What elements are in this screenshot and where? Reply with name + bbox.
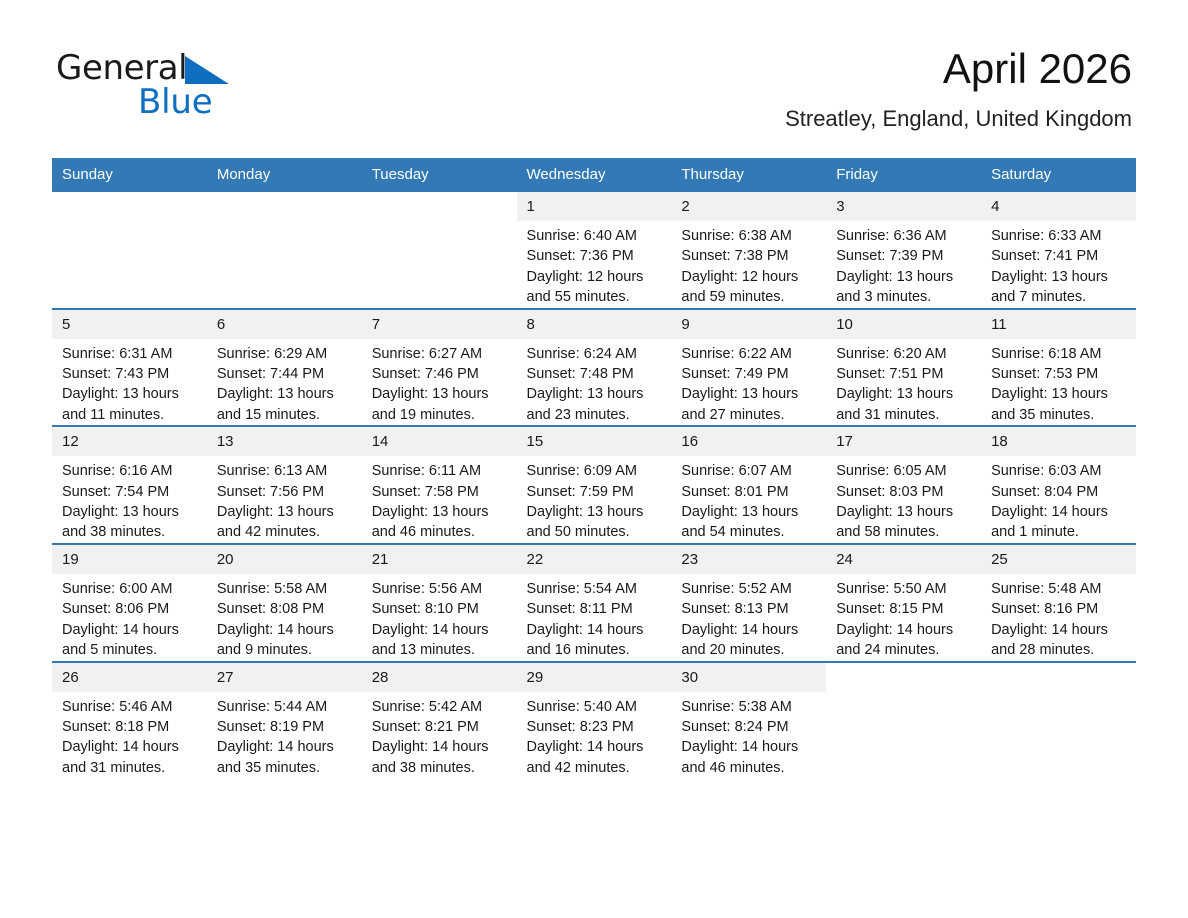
day-number: 24: [826, 545, 981, 574]
day-cell-inner: 2Sunrise: 6:38 AMSunset: 7:38 PMDaylight…: [671, 192, 826, 308]
location-subtitle: Streatley, England, United Kingdom: [785, 106, 1132, 132]
daylight-text-line1: Daylight: 13 hours: [217, 384, 356, 404]
sunrise-text: Sunrise: 5:58 AM: [217, 579, 356, 599]
daylight-text-line1: Daylight: 13 hours: [836, 384, 975, 404]
logo-text-blue: Blue: [138, 85, 356, 119]
weekday-header-wednesday: Wednesday: [517, 158, 672, 192]
sunrise-text: Sunrise: 6:18 AM: [991, 344, 1130, 364]
weekday-header-thursday: Thursday: [671, 158, 826, 192]
daylight-text-line1: Daylight: 13 hours: [836, 267, 975, 287]
daylight-text-line1: Daylight: 14 hours: [681, 737, 820, 757]
sunset-text: Sunset: 7:48 PM: [527, 364, 666, 384]
day-details: Sunrise: 5:38 AMSunset: 8:24 PMDaylight:…: [671, 692, 826, 779]
daylight-text-line2: and 20 minutes.: [681, 640, 820, 660]
day-number: [826, 663, 981, 692]
day-cell-inner: 3Sunrise: 6:36 AMSunset: 7:39 PMDaylight…: [826, 192, 981, 308]
calendar-day-cell[interactable]: 13Sunrise: 6:13 AMSunset: 7:56 PMDayligh…: [207, 426, 362, 544]
day-number: 25: [981, 545, 1136, 574]
sunset-text: Sunset: 7:43 PM: [62, 364, 201, 384]
sunset-text: Sunset: 8:03 PM: [836, 482, 975, 502]
sunrise-text: Sunrise: 5:52 AM: [681, 579, 820, 599]
weekday-header-tuesday: Tuesday: [362, 158, 517, 192]
daylight-text-line2: and 5 minutes.: [62, 640, 201, 660]
daylight-text-line1: Daylight: 14 hours: [372, 737, 511, 757]
day-cell-inner: [207, 192, 362, 308]
calendar-day-cell[interactable]: 15Sunrise: 6:09 AMSunset: 7:59 PMDayligh…: [517, 426, 672, 544]
sunset-text: Sunset: 7:44 PM: [217, 364, 356, 384]
calendar-day-cell[interactable]: 20Sunrise: 5:58 AMSunset: 8:08 PMDayligh…: [207, 544, 362, 662]
day-details: Sunrise: 6:36 AMSunset: 7:39 PMDaylight:…: [826, 221, 981, 308]
day-number: 6: [207, 310, 362, 339]
sunset-text: Sunset: 8:08 PM: [217, 599, 356, 619]
calendar-day-cell[interactable]: 30Sunrise: 5:38 AMSunset: 8:24 PMDayligh…: [671, 662, 826, 779]
day-details: Sunrise: 6:16 AMSunset: 7:54 PMDaylight:…: [52, 456, 207, 543]
sunrise-text: Sunrise: 6:20 AM: [836, 344, 975, 364]
day-details: Sunrise: 6:33 AMSunset: 7:41 PMDaylight:…: [981, 221, 1136, 308]
sunrise-text: Sunrise: 6:00 AM: [62, 579, 201, 599]
calendar-day-cell[interactable]: 9Sunrise: 6:22 AMSunset: 7:49 PMDaylight…: [671, 309, 826, 427]
daylight-text-line1: Daylight: 13 hours: [681, 502, 820, 522]
calendar-day-cell[interactable]: 10Sunrise: 6:20 AMSunset: 7:51 PMDayligh…: [826, 309, 981, 427]
sunset-text: Sunset: 8:13 PM: [681, 599, 820, 619]
calendar-page: General Blue April 2026 Streatley, Engla…: [0, 0, 1188, 918]
daylight-text-line2: and 16 minutes.: [527, 640, 666, 660]
day-details: Sunrise: 6:03 AMSunset: 8:04 PMDaylight:…: [981, 456, 1136, 543]
day-cell-inner: 17Sunrise: 6:05 AMSunset: 8:03 PMDayligh…: [826, 427, 981, 543]
day-details: Sunrise: 6:05 AMSunset: 8:03 PMDaylight:…: [826, 456, 981, 543]
sunset-text: Sunset: 8:06 PM: [62, 599, 201, 619]
day-number: 3: [826, 192, 981, 221]
sunset-text: Sunset: 8:15 PM: [836, 599, 975, 619]
calendar-table: Sunday Monday Tuesday Wednesday Thursday…: [52, 158, 1136, 778]
weekday-header-monday: Monday: [207, 158, 362, 192]
day-number: 1: [517, 192, 672, 221]
day-cell-inner: 23Sunrise: 5:52 AMSunset: 8:13 PMDayligh…: [671, 545, 826, 661]
daylight-text-line2: and 35 minutes.: [991, 405, 1130, 425]
calendar-day-cell[interactable]: 24Sunrise: 5:50 AMSunset: 8:15 PMDayligh…: [826, 544, 981, 662]
calendar-week-row: 12Sunrise: 6:16 AMSunset: 7:54 PMDayligh…: [52, 426, 1136, 544]
logo-top-row: General: [56, 50, 356, 88]
daylight-text-line2: and 13 minutes.: [372, 640, 511, 660]
daylight-text-line1: Daylight: 13 hours: [372, 384, 511, 404]
day-cell-inner: 7Sunrise: 6:27 AMSunset: 7:46 PMDaylight…: [362, 310, 517, 426]
daylight-text-line1: Daylight: 13 hours: [527, 384, 666, 404]
sunset-text: Sunset: 7:56 PM: [217, 482, 356, 502]
calendar-day-cell[interactable]: 16Sunrise: 6:07 AMSunset: 8:01 PMDayligh…: [671, 426, 826, 544]
day-cell-inner: [981, 663, 1136, 779]
day-details: Sunrise: 5:56 AMSunset: 8:10 PMDaylight:…: [362, 574, 517, 661]
day-details: Sunrise: 6:22 AMSunset: 7:49 PMDaylight:…: [671, 339, 826, 426]
calendar-cell-empty: [826, 662, 981, 779]
day-number: 2: [671, 192, 826, 221]
daylight-text-line1: Daylight: 14 hours: [836, 620, 975, 640]
day-number: 28: [362, 663, 517, 692]
calendar-day-cell[interactable]: 12Sunrise: 6:16 AMSunset: 7:54 PMDayligh…: [52, 426, 207, 544]
page-header: General Blue April 2026 Streatley, Engla…: [0, 0, 1188, 118]
day-details: Sunrise: 5:40 AMSunset: 8:23 PMDaylight:…: [517, 692, 672, 779]
calendar-day-cell[interactable]: 27Sunrise: 5:44 AMSunset: 8:19 PMDayligh…: [207, 662, 362, 779]
calendar-day-cell[interactable]: 19Sunrise: 6:00 AMSunset: 8:06 PMDayligh…: [52, 544, 207, 662]
day-cell-inner: 13Sunrise: 6:13 AMSunset: 7:56 PMDayligh…: [207, 427, 362, 543]
calendar-day-cell[interactable]: 6Sunrise: 6:29 AMSunset: 7:44 PMDaylight…: [207, 309, 362, 427]
weekday-header-saturday: Saturday: [981, 158, 1136, 192]
logo-text-general: General: [56, 50, 187, 86]
day-cell-inner: 1Sunrise: 6:40 AMSunset: 7:36 PMDaylight…: [517, 192, 672, 308]
sunset-text: Sunset: 8:24 PM: [681, 717, 820, 737]
sunset-text: Sunset: 7:41 PM: [991, 246, 1130, 266]
daylight-text-line2: and 27 minutes.: [681, 405, 820, 425]
daylight-text-line2: and 42 minutes.: [527, 758, 666, 778]
day-number: 10: [826, 310, 981, 339]
sunset-text: Sunset: 7:54 PM: [62, 482, 201, 502]
calendar-week-row: 26Sunrise: 5:46 AMSunset: 8:18 PMDayligh…: [52, 662, 1136, 779]
sunrise-text: Sunrise: 6:31 AM: [62, 344, 201, 364]
daylight-text-line1: Daylight: 14 hours: [991, 620, 1130, 640]
day-number: 19: [52, 545, 207, 574]
day-cell-inner: 18Sunrise: 6:03 AMSunset: 8:04 PMDayligh…: [981, 427, 1136, 543]
day-number: 9: [671, 310, 826, 339]
day-number: 17: [826, 427, 981, 456]
day-details: Sunrise: 6:20 AMSunset: 7:51 PMDaylight:…: [826, 339, 981, 426]
sunset-text: Sunset: 8:21 PM: [372, 717, 511, 737]
daylight-text-line2: and 3 minutes.: [836, 287, 975, 307]
day-number: 7: [362, 310, 517, 339]
day-cell-inner: 8Sunrise: 6:24 AMSunset: 7:48 PMDaylight…: [517, 310, 672, 426]
day-cell-inner: 4Sunrise: 6:33 AMSunset: 7:41 PMDaylight…: [981, 192, 1136, 308]
daylight-text-line1: Daylight: 13 hours: [62, 502, 201, 522]
sunset-text: Sunset: 8:10 PM: [372, 599, 511, 619]
calendar-container: Sunday Monday Tuesday Wednesday Thursday…: [52, 158, 1136, 778]
day-number: [52, 192, 207, 221]
sunset-text: Sunset: 7:36 PM: [527, 246, 666, 266]
triangle-icon: [185, 56, 229, 89]
daylight-text-line2: and 35 minutes.: [217, 758, 356, 778]
day-cell-inner: 19Sunrise: 6:00 AMSunset: 8:06 PMDayligh…: [52, 545, 207, 661]
day-details: Sunrise: 6:27 AMSunset: 7:46 PMDaylight:…: [362, 339, 517, 426]
day-number: 16: [671, 427, 826, 456]
day-details: Sunrise: 5:54 AMSunset: 8:11 PMDaylight:…: [517, 574, 672, 661]
sunrise-text: Sunrise: 6:29 AM: [217, 344, 356, 364]
daylight-text-line2: and 54 minutes.: [681, 522, 820, 542]
sunset-text: Sunset: 7:53 PM: [991, 364, 1130, 384]
sunset-text: Sunset: 8:23 PM: [527, 717, 666, 737]
day-details: Sunrise: 6:29 AMSunset: 7:44 PMDaylight:…: [207, 339, 362, 426]
day-number: [207, 192, 362, 221]
sunrise-text: Sunrise: 6:38 AM: [681, 226, 820, 246]
sunset-text: Sunset: 8:16 PM: [991, 599, 1130, 619]
day-details: Sunrise: 6:38 AMSunset: 7:38 PMDaylight:…: [671, 221, 826, 308]
day-details: Sunrise: 5:52 AMSunset: 8:13 PMDaylight:…: [671, 574, 826, 661]
title-block: April 2026 Streatley, England, United Ki…: [785, 44, 1132, 132]
day-details: Sunrise: 6:00 AMSunset: 8:06 PMDaylight:…: [52, 574, 207, 661]
calendar-day-cell[interactable]: 11Sunrise: 6:18 AMSunset: 7:53 PMDayligh…: [981, 309, 1136, 427]
day-number: 23: [671, 545, 826, 574]
daylight-text-line1: Daylight: 14 hours: [217, 737, 356, 757]
calendar-day-cell[interactable]: 22Sunrise: 5:54 AMSunset: 8:11 PMDayligh…: [517, 544, 672, 662]
day-details: Sunrise: 5:42 AMSunset: 8:21 PMDaylight:…: [362, 692, 517, 779]
day-number: 15: [517, 427, 672, 456]
sunrise-text: Sunrise: 5:48 AM: [991, 579, 1130, 599]
daylight-text-line2: and 1 minute.: [991, 522, 1130, 542]
calendar-cell-empty: [362, 192, 517, 309]
day-details: Sunrise: 5:48 AMSunset: 8:16 PMDaylight:…: [981, 574, 1136, 661]
day-details: Sunrise: 5:44 AMSunset: 8:19 PMDaylight:…: [207, 692, 362, 779]
day-details: Sunrise: 6:07 AMSunset: 8:01 PMDaylight:…: [671, 456, 826, 543]
daylight-text-line2: and 59 minutes.: [681, 287, 820, 307]
day-cell-inner: 20Sunrise: 5:58 AMSunset: 8:08 PMDayligh…: [207, 545, 362, 661]
day-number: [362, 192, 517, 221]
sunrise-text: Sunrise: 6:11 AM: [372, 461, 511, 481]
day-cell-inner: 29Sunrise: 5:40 AMSunset: 8:23 PMDayligh…: [517, 663, 672, 779]
day-details: Sunrise: 6:31 AMSunset: 7:43 PMDaylight:…: [52, 339, 207, 426]
daylight-text-line2: and 55 minutes.: [527, 287, 666, 307]
day-details: Sunrise: 6:11 AMSunset: 7:58 PMDaylight:…: [362, 456, 517, 543]
day-details: Sunrise: 6:09 AMSunset: 7:59 PMDaylight:…: [517, 456, 672, 543]
day-cell-inner: 21Sunrise: 5:56 AMSunset: 8:10 PMDayligh…: [362, 545, 517, 661]
sunrise-text: Sunrise: 6:03 AM: [991, 461, 1130, 481]
daylight-text-line1: Daylight: 14 hours: [527, 620, 666, 640]
daylight-text-line2: and 31 minutes.: [62, 758, 201, 778]
calendar-day-cell[interactable]: 4Sunrise: 6:33 AMSunset: 7:41 PMDaylight…: [981, 192, 1136, 309]
day-cell-inner: 26Sunrise: 5:46 AMSunset: 8:18 PMDayligh…: [52, 663, 207, 779]
sunrise-text: Sunrise: 6:09 AM: [527, 461, 666, 481]
day-number: 22: [517, 545, 672, 574]
daylight-text-line2: and 28 minutes.: [991, 640, 1130, 660]
sunset-text: Sunset: 7:59 PM: [527, 482, 666, 502]
calendar-week-row: 5Sunrise: 6:31 AMSunset: 7:43 PMDaylight…: [52, 309, 1136, 427]
calendar-day-cell[interactable]: 21Sunrise: 5:56 AMSunset: 8:10 PMDayligh…: [362, 544, 517, 662]
day-cell-inner: 14Sunrise: 6:11 AMSunset: 7:58 PMDayligh…: [362, 427, 517, 543]
daylight-text-line2: and 7 minutes.: [991, 287, 1130, 307]
daylight-text-line1: Daylight: 13 hours: [372, 502, 511, 522]
calendar-cell-empty: [981, 662, 1136, 779]
daylight-text-line2: and 38 minutes.: [372, 758, 511, 778]
day-cell-inner: 16Sunrise: 6:07 AMSunset: 8:01 PMDayligh…: [671, 427, 826, 543]
day-number: 13: [207, 427, 362, 456]
calendar-day-cell[interactable]: 14Sunrise: 6:11 AMSunset: 7:58 PMDayligh…: [362, 426, 517, 544]
daylight-text-line2: and 58 minutes.: [836, 522, 975, 542]
daylight-text-line2: and 42 minutes.: [217, 522, 356, 542]
day-number: 27: [207, 663, 362, 692]
calendar-day-cell[interactable]: 2Sunrise: 6:38 AMSunset: 7:38 PMDaylight…: [671, 192, 826, 309]
daylight-text-line1: Daylight: 14 hours: [681, 620, 820, 640]
calendar-day-cell[interactable]: 1Sunrise: 6:40 AMSunset: 7:36 PMDaylight…: [517, 192, 672, 309]
daylight-text-line1: Daylight: 13 hours: [681, 384, 820, 404]
sunset-text: Sunset: 8:04 PM: [991, 482, 1130, 502]
sunrise-text: Sunrise: 5:42 AM: [372, 697, 511, 717]
sunrise-text: Sunrise: 6:13 AM: [217, 461, 356, 481]
calendar-day-cell[interactable]: 18Sunrise: 6:03 AMSunset: 8:04 PMDayligh…: [981, 426, 1136, 544]
sunrise-text: Sunrise: 6:24 AM: [527, 344, 666, 364]
sunrise-text: Sunrise: 5:54 AM: [527, 579, 666, 599]
sunrise-text: Sunrise: 6:16 AM: [62, 461, 201, 481]
sunset-text: Sunset: 7:58 PM: [372, 482, 511, 502]
daylight-text-line1: Daylight: 14 hours: [62, 737, 201, 757]
sunrise-text: Sunrise: 6:07 AM: [681, 461, 820, 481]
daylight-text-line1: Daylight: 12 hours: [681, 267, 820, 287]
daylight-text-line1: Daylight: 13 hours: [217, 502, 356, 522]
daylight-text-line1: Daylight: 13 hours: [527, 502, 666, 522]
sunset-text: Sunset: 7:51 PM: [836, 364, 975, 384]
daylight-text-line1: Daylight: 14 hours: [217, 620, 356, 640]
day-cell-inner: 6Sunrise: 6:29 AMSunset: 7:44 PMDaylight…: [207, 310, 362, 426]
daylight-text-line2: and 31 minutes.: [836, 405, 975, 425]
sunset-text: Sunset: 8:18 PM: [62, 717, 201, 737]
day-number: 5: [52, 310, 207, 339]
day-number: 26: [52, 663, 207, 692]
daylight-text-line2: and 46 minutes.: [372, 522, 511, 542]
day-details: Sunrise: 6:40 AMSunset: 7:36 PMDaylight:…: [517, 221, 672, 308]
sunrise-text: Sunrise: 5:56 AM: [372, 579, 511, 599]
sunset-text: Sunset: 7:46 PM: [372, 364, 511, 384]
day-details: Sunrise: 5:58 AMSunset: 8:08 PMDaylight:…: [207, 574, 362, 661]
day-number: 4: [981, 192, 1136, 221]
calendar-day-cell[interactable]: 7Sunrise: 6:27 AMSunset: 7:46 PMDaylight…: [362, 309, 517, 427]
sunset-text: Sunset: 8:11 PM: [527, 599, 666, 619]
day-cell-inner: 10Sunrise: 6:20 AMSunset: 7:51 PMDayligh…: [826, 310, 981, 426]
calendar-day-cell[interactable]: 8Sunrise: 6:24 AMSunset: 7:48 PMDaylight…: [517, 309, 672, 427]
daylight-text-line2: and 9 minutes.: [217, 640, 356, 660]
daylight-text-line1: Daylight: 13 hours: [991, 267, 1130, 287]
day-cell-inner: 15Sunrise: 6:09 AMSunset: 7:59 PMDayligh…: [517, 427, 672, 543]
day-number: 18: [981, 427, 1136, 456]
daylight-text-line1: Daylight: 14 hours: [62, 620, 201, 640]
daylight-text-line2: and 19 minutes.: [372, 405, 511, 425]
day-number: 14: [362, 427, 517, 456]
day-cell-inner: [826, 663, 981, 779]
day-number: 11: [981, 310, 1136, 339]
sunset-text: Sunset: 7:38 PM: [681, 246, 820, 266]
sunrise-text: Sunrise: 6:27 AM: [372, 344, 511, 364]
sunset-text: Sunset: 7:49 PM: [681, 364, 820, 384]
day-cell-inner: 11Sunrise: 6:18 AMSunset: 7:53 PMDayligh…: [981, 310, 1136, 426]
calendar-week-row: 19Sunrise: 6:00 AMSunset: 8:06 PMDayligh…: [52, 544, 1136, 662]
calendar-cell-empty: [207, 192, 362, 309]
calendar-day-cell[interactable]: 28Sunrise: 5:42 AMSunset: 8:21 PMDayligh…: [362, 662, 517, 779]
day-cell-inner: 30Sunrise: 5:38 AMSunset: 8:24 PMDayligh…: [671, 663, 826, 779]
sunrise-text: Sunrise: 6:22 AM: [681, 344, 820, 364]
sunrise-text: Sunrise: 5:44 AM: [217, 697, 356, 717]
daylight-text-line1: Daylight: 12 hours: [527, 267, 666, 287]
brand-logo[interactable]: General Blue: [56, 50, 356, 120]
sunrise-text: Sunrise: 6:33 AM: [991, 226, 1130, 246]
daylight-text-line1: Daylight: 14 hours: [991, 502, 1130, 522]
calendar-day-cell[interactable]: 23Sunrise: 5:52 AMSunset: 8:13 PMDayligh…: [671, 544, 826, 662]
day-cell-inner: 5Sunrise: 6:31 AMSunset: 7:43 PMDaylight…: [52, 310, 207, 426]
day-cell-inner: [362, 192, 517, 308]
day-cell-inner: [52, 192, 207, 308]
day-number: 30: [671, 663, 826, 692]
day-cell-inner: 9Sunrise: 6:22 AMSunset: 7:49 PMDaylight…: [671, 310, 826, 426]
sunrise-text: Sunrise: 6:40 AM: [527, 226, 666, 246]
day-cell-inner: 28Sunrise: 5:42 AMSunset: 8:21 PMDayligh…: [362, 663, 517, 779]
day-details: Sunrise: 6:24 AMSunset: 7:48 PMDaylight:…: [517, 339, 672, 426]
sunrise-text: Sunrise: 5:38 AM: [681, 697, 820, 717]
daylight-text-line2: and 23 minutes.: [527, 405, 666, 425]
calendar-body: 1Sunrise: 6:40 AMSunset: 7:36 PMDaylight…: [52, 192, 1136, 778]
day-number: 21: [362, 545, 517, 574]
calendar-day-cell[interactable]: 26Sunrise: 5:46 AMSunset: 8:18 PMDayligh…: [52, 662, 207, 779]
weekday-header-sunday: Sunday: [52, 158, 207, 192]
sunset-text: Sunset: 8:01 PM: [681, 482, 820, 502]
day-number: 29: [517, 663, 672, 692]
daylight-text-line2: and 15 minutes.: [217, 405, 356, 425]
daylight-text-line2: and 24 minutes.: [836, 640, 975, 660]
daylight-text-line1: Daylight: 14 hours: [372, 620, 511, 640]
sunrise-text: Sunrise: 6:05 AM: [836, 461, 975, 481]
day-details: Sunrise: 6:13 AMSunset: 7:56 PMDaylight:…: [207, 456, 362, 543]
day-number: [981, 663, 1136, 692]
sunrise-text: Sunrise: 6:36 AM: [836, 226, 975, 246]
daylight-text-line2: and 50 minutes.: [527, 522, 666, 542]
daylight-text-line1: Daylight: 13 hours: [62, 384, 201, 404]
page-title: April 2026: [785, 44, 1132, 94]
sunrise-text: Sunrise: 5:46 AM: [62, 697, 201, 717]
daylight-text-line1: Daylight: 13 hours: [991, 384, 1130, 404]
day-cell-inner: 27Sunrise: 5:44 AMSunset: 8:19 PMDayligh…: [207, 663, 362, 779]
calendar-day-cell[interactable]: 5Sunrise: 6:31 AMSunset: 7:43 PMDaylight…: [52, 309, 207, 427]
sunset-text: Sunset: 7:39 PM: [836, 246, 975, 266]
day-cell-inner: 24Sunrise: 5:50 AMSunset: 8:15 PMDayligh…: [826, 545, 981, 661]
day-cell-inner: 22Sunrise: 5:54 AMSunset: 8:11 PMDayligh…: [517, 545, 672, 661]
sunrise-text: Sunrise: 5:40 AM: [527, 697, 666, 717]
daylight-text-line1: Daylight: 14 hours: [527, 737, 666, 757]
day-number: 8: [517, 310, 672, 339]
sunrise-text: Sunrise: 5:50 AM: [836, 579, 975, 599]
calendar-day-cell[interactable]: 17Sunrise: 6:05 AMSunset: 8:03 PMDayligh…: [826, 426, 981, 544]
day-details: Sunrise: 5:50 AMSunset: 8:15 PMDaylight:…: [826, 574, 981, 661]
daylight-text-line1: Daylight: 13 hours: [836, 502, 975, 522]
day-cell-inner: 25Sunrise: 5:48 AMSunset: 8:16 PMDayligh…: [981, 545, 1136, 661]
daylight-text-line2: and 46 minutes.: [681, 758, 820, 778]
day-number: 12: [52, 427, 207, 456]
calendar-day-cell[interactable]: 3Sunrise: 6:36 AMSunset: 7:39 PMDaylight…: [826, 192, 981, 309]
day-details: Sunrise: 6:18 AMSunset: 7:53 PMDaylight:…: [981, 339, 1136, 426]
day-details: Sunrise: 5:46 AMSunset: 8:18 PMDaylight:…: [52, 692, 207, 779]
calendar-header-row: Sunday Monday Tuesday Wednesday Thursday…: [52, 158, 1136, 192]
calendar-cell-empty: [52, 192, 207, 309]
day-cell-inner: 12Sunrise: 6:16 AMSunset: 7:54 PMDayligh…: [52, 427, 207, 543]
sunset-text: Sunset: 8:19 PM: [217, 717, 356, 737]
calendar-day-cell[interactable]: 25Sunrise: 5:48 AMSunset: 8:16 PMDayligh…: [981, 544, 1136, 662]
calendar-week-row: 1Sunrise: 6:40 AMSunset: 7:36 PMDaylight…: [52, 192, 1136, 309]
day-number: 20: [207, 545, 362, 574]
calendar-day-cell[interactable]: 29Sunrise: 5:40 AMSunset: 8:23 PMDayligh…: [517, 662, 672, 779]
daylight-text-line2: and 38 minutes.: [62, 522, 201, 542]
daylight-text-line2: and 11 minutes.: [62, 405, 201, 425]
weekday-header-friday: Friday: [826, 158, 981, 192]
